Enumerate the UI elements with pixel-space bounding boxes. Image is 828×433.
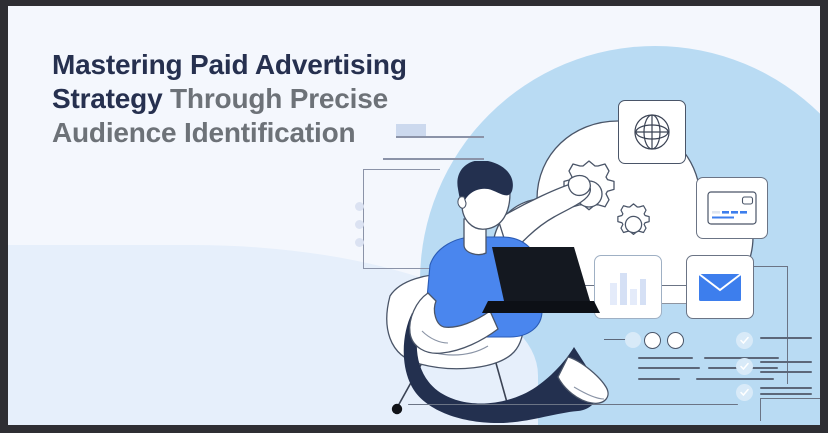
title-line-2-rest: Through Precise	[162, 83, 388, 114]
globe-icon	[630, 110, 674, 154]
banner-canvas: Mastering Paid Advertising Strategy Thro…	[8, 6, 820, 425]
check-item-2-icon	[736, 358, 753, 375]
check-item-line	[760, 337, 812, 339]
avatar	[667, 332, 684, 349]
check-item-line	[760, 371, 812, 373]
placeholder-line	[638, 357, 693, 359]
wireframe-dot	[355, 220, 364, 229]
check-item-3-icon	[736, 384, 753, 401]
title-underline-2	[383, 158, 484, 160]
page-title: Mastering Paid Advertising Strategy Thro…	[52, 48, 482, 150]
wireframe-dots	[355, 202, 364, 256]
avatar	[644, 332, 661, 349]
panel-connector-horizontal	[752, 266, 788, 267]
avatar-glow	[625, 332, 641, 348]
check-item-line	[760, 393, 812, 395]
title-line-1: Mastering Paid Advertising	[52, 49, 407, 80]
check-item-line	[760, 387, 812, 389]
card-connector-right	[658, 285, 688, 286]
placeholder-line	[638, 367, 700, 369]
panel-connector-vertical	[787, 266, 788, 384]
credit-card-icon	[707, 191, 757, 225]
title-line-2-bold: Strategy	[52, 83, 162, 114]
check-item-1-icon	[736, 332, 753, 349]
check-item-line	[760, 361, 812, 363]
title-line-3: Audience Identification	[52, 117, 355, 148]
banner-frame: Mastering Paid Advertising Strategy Thro…	[0, 0, 828, 433]
placeholder-line	[638, 378, 680, 380]
wireframe-dot	[355, 238, 364, 247]
panel-outline	[760, 398, 820, 421]
placeholder-line	[696, 378, 774, 380]
credit-card-icon-card[interactable]	[696, 177, 768, 239]
globe-icon-card[interactable]	[618, 100, 686, 164]
envelope-icon	[698, 271, 742, 303]
person-illustration	[378, 161, 638, 425]
wireframe-dot	[355, 202, 364, 211]
mail-icon-card[interactable]	[686, 255, 754, 319]
